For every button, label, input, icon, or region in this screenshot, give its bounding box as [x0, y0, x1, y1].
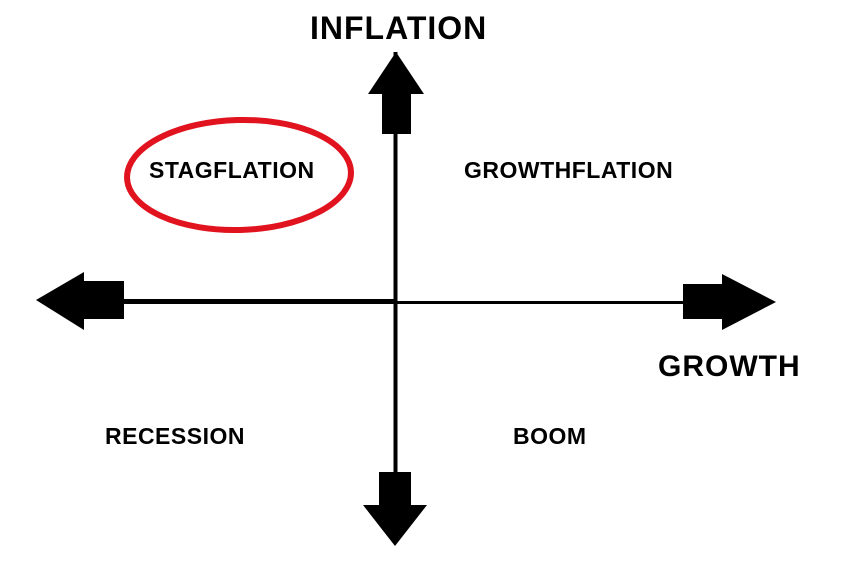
quadrant-label-growthflation: GROWTHFLATION [464, 157, 673, 184]
quadrant-label-recession: RECESSION [105, 423, 245, 450]
quadrant-label-boom: BOOM [513, 423, 587, 450]
diagram-canvas: INFLATION GROWTH STAGFLATION GROWTHFLATI… [0, 0, 861, 585]
arrow-up-icon [368, 52, 424, 134]
arrow-down-icon [363, 472, 427, 546]
horizontal-axis-line-left [108, 299, 396, 304]
quadrant-label-stagflation: STAGFLATION [149, 157, 315, 184]
arrow-left-icon [36, 272, 124, 330]
quadrant-diagram-graphic [0, 0, 861, 585]
arrow-right-icon [683, 274, 776, 330]
axis-label-inflation: INFLATION [310, 10, 487, 47]
axis-label-growth: GROWTH [658, 350, 801, 384]
